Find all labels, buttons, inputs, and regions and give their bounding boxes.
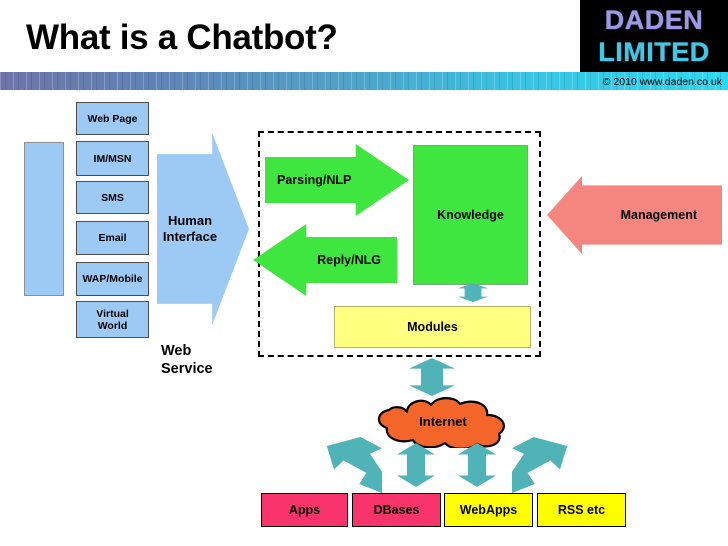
- human-interface-label: Human Interface: [159, 213, 221, 245]
- human-interface-arrow[interactable]: Human Interface: [157, 133, 249, 325]
- channel-backdrop-panel: [24, 142, 64, 296]
- channel-box-im-msn[interactable]: IM/MSN: [76, 141, 149, 176]
- logo-line-limited: LIMITED: [580, 36, 728, 68]
- source-box-rss[interactable]: RSS etc: [537, 493, 626, 527]
- modules-internet-connector-arrow: [409, 358, 455, 396]
- knowledge-box[interactable]: Knowledge: [413, 145, 528, 285]
- management-label: Management: [621, 208, 697, 222]
- channel-box-virtual-world[interactable]: Virtual World: [76, 301, 149, 338]
- copyright-notice: © 2010 www.daden.co.uk: [603, 76, 722, 88]
- channel-box-web-page[interactable]: Web Page: [76, 102, 149, 135]
- source-box-apps[interactable]: Apps: [261, 493, 348, 527]
- internet-webapps-connector-arrow: [458, 443, 496, 487]
- management-arrow[interactable]: Management: [547, 176, 722, 254]
- slide-canvas: What is a Chatbot? DADEN LIMITED © 2010 …: [0, 0, 728, 546]
- internet-rss-connector-arrow: [512, 437, 572, 493]
- logo-line-daden: DADEN: [580, 4, 728, 36]
- parsing-nlp-label: Parsing/NLP: [277, 173, 351, 187]
- modules-box[interactable]: Modules: [334, 306, 531, 348]
- internet-label: Internet: [373, 414, 513, 429]
- source-box-webapps[interactable]: WebApps: [444, 493, 533, 527]
- internet-apps-connector-arrow: [322, 437, 382, 493]
- channel-box-sms[interactable]: SMS: [76, 181, 149, 214]
- daden-logo: DADEN LIMITED: [580, 0, 728, 72]
- internet-dbases-connector-arrow: [397, 443, 435, 487]
- web-service-label: Web Service: [161, 342, 213, 378]
- source-box-dbases[interactable]: DBases: [352, 493, 441, 527]
- reply-nlg-label: Reply/NLG: [317, 253, 381, 267]
- page-title: What is a Chatbot?: [26, 18, 338, 58]
- channel-box-wap-mobile[interactable]: WAP/Mobile: [76, 262, 149, 296]
- channel-box-email[interactable]: Email: [76, 221, 149, 255]
